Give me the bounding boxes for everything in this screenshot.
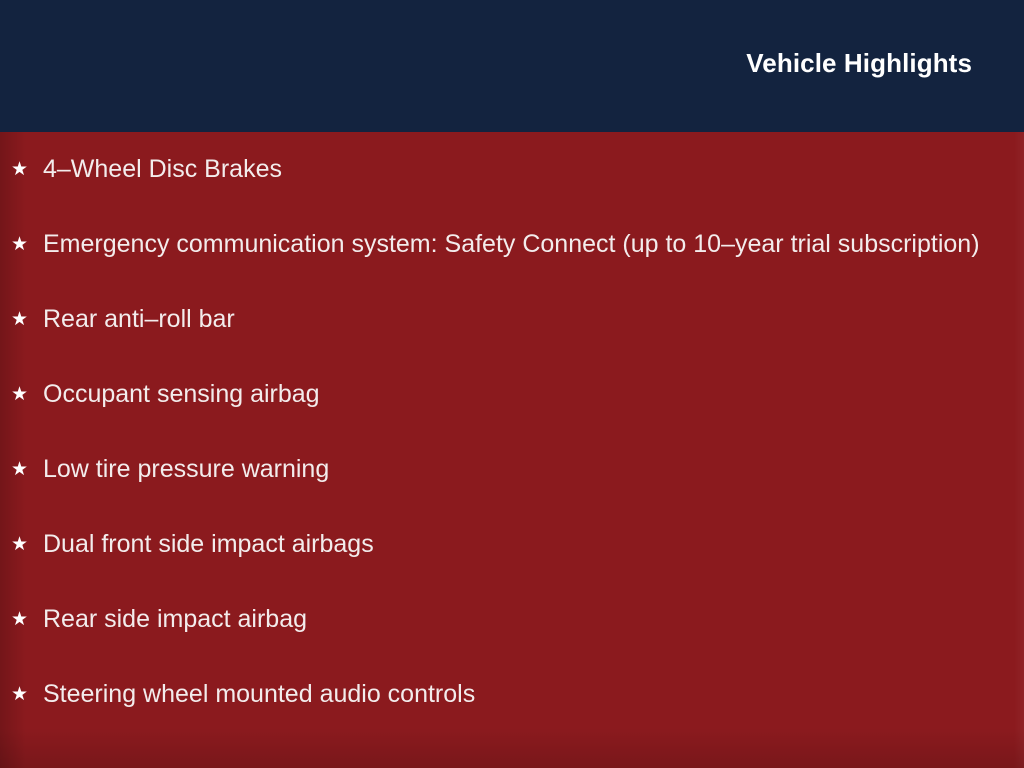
list-item-label: Dual front side impact airbags [43, 527, 984, 562]
star-icon: ★ [11, 302, 33, 337]
list-item-label: Rear side impact airbag [43, 602, 984, 637]
star-icon: ★ [11, 377, 33, 412]
star-icon: ★ [11, 227, 33, 262]
page-title: Vehicle Highlights [746, 46, 972, 80]
vehicle-highlights-slide: Vehicle Highlights ★ 4–Wheel Disc Brakes… [0, 0, 1024, 768]
star-icon: ★ [11, 677, 33, 712]
star-icon: ★ [11, 452, 33, 487]
list-item: ★ 4–Wheel Disc Brakes [11, 152, 984, 187]
list-item: ★ Steering wheel mounted audio controls [11, 677, 984, 712]
list-item-label: Steering wheel mounted audio controls [43, 677, 984, 712]
list-item-label: 4–Wheel Disc Brakes [43, 152, 984, 187]
body-panel: ★ 4–Wheel Disc Brakes ★ Emergency commun… [0, 132, 1024, 768]
header-band: Vehicle Highlights [0, 0, 1024, 132]
list-item-label: Rear anti–roll bar [43, 302, 984, 337]
list-item: ★ Rear anti–roll bar [11, 302, 984, 337]
list-item-label: Low tire pressure warning [43, 452, 984, 487]
vehicle-highlights-list: ★ 4–Wheel Disc Brakes ★ Emergency commun… [0, 132, 1024, 712]
list-item: ★ Occupant sensing airbag [11, 377, 984, 412]
list-item: ★ Emergency communication system: Safety… [11, 227, 984, 262]
star-icon: ★ [11, 527, 33, 562]
list-item-label: Emergency communication system: Safety C… [43, 227, 984, 262]
list-item: ★ Dual front side impact airbags [11, 527, 984, 562]
list-item: ★ Low tire pressure warning [11, 452, 984, 487]
star-icon: ★ [11, 602, 33, 637]
list-item-label: Occupant sensing airbag [43, 377, 984, 412]
star-icon: ★ [11, 152, 33, 187]
list-item: ★ Rear side impact airbag [11, 602, 984, 637]
